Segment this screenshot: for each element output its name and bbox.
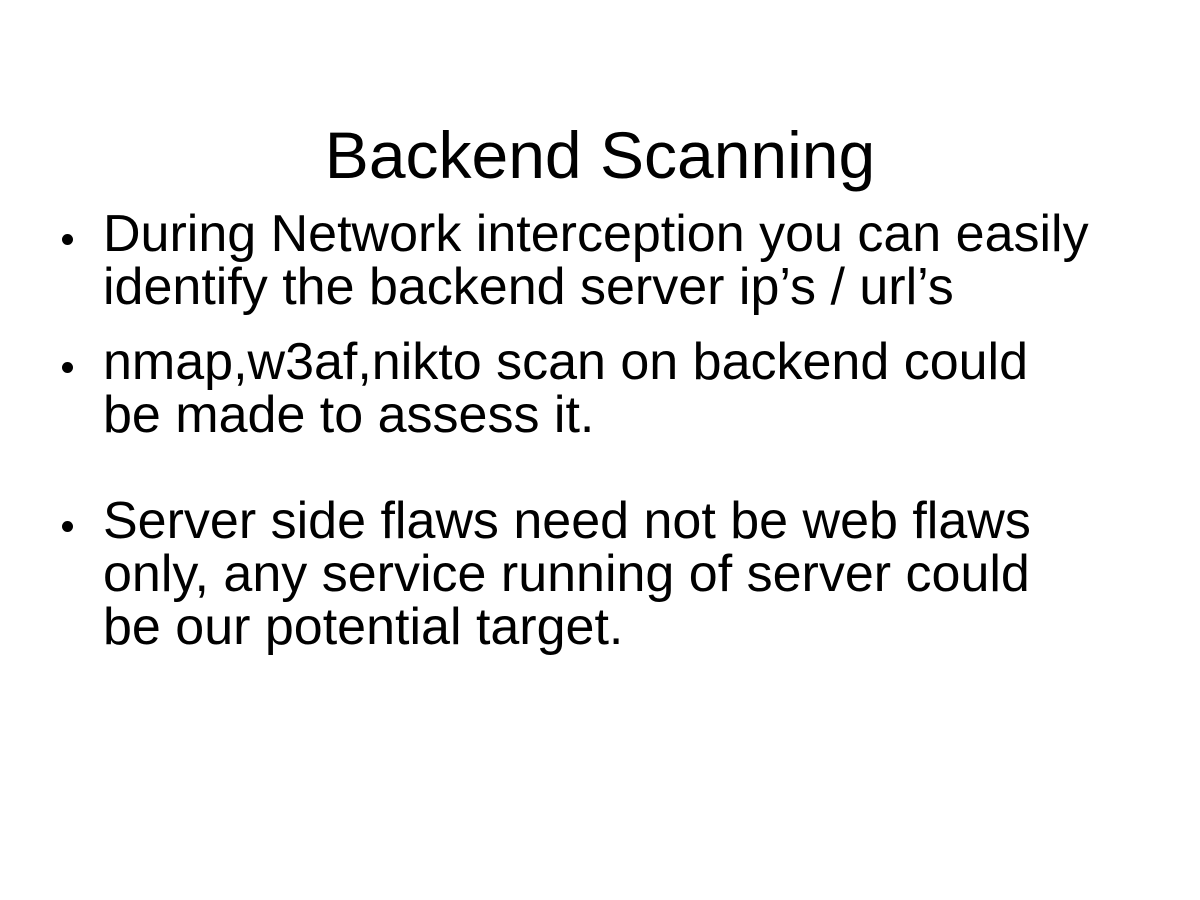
bullet-dot-icon bbox=[62, 521, 73, 532]
bullet-dot-icon bbox=[62, 362, 73, 373]
list-item[interactable]: Server side flaws need not be web flaws … bbox=[55, 495, 1115, 654]
list-item-label: During Network interception you can easi… bbox=[103, 208, 1093, 314]
list-item[interactable]: nmap,w3af,nikto scan on backend could be… bbox=[55, 336, 1115, 442]
slide-body-content: During Network interception you can easi… bbox=[55, 208, 1115, 654]
list-item[interactable]: During Network interception you can easi… bbox=[55, 208, 1115, 314]
list-item-label: Server side flaws need not be web flaws … bbox=[103, 495, 1093, 654]
blank-list-spacer bbox=[55, 442, 1115, 495]
bullet-dot-icon bbox=[62, 234, 73, 245]
list-item-label: nmap,w3af,nikto scan on backend could be… bbox=[103, 336, 1093, 442]
slide-title: Backend Scanning bbox=[0, 122, 1200, 188]
presentation-slide: Backend Scanning During Network intercep… bbox=[0, 0, 1200, 900]
